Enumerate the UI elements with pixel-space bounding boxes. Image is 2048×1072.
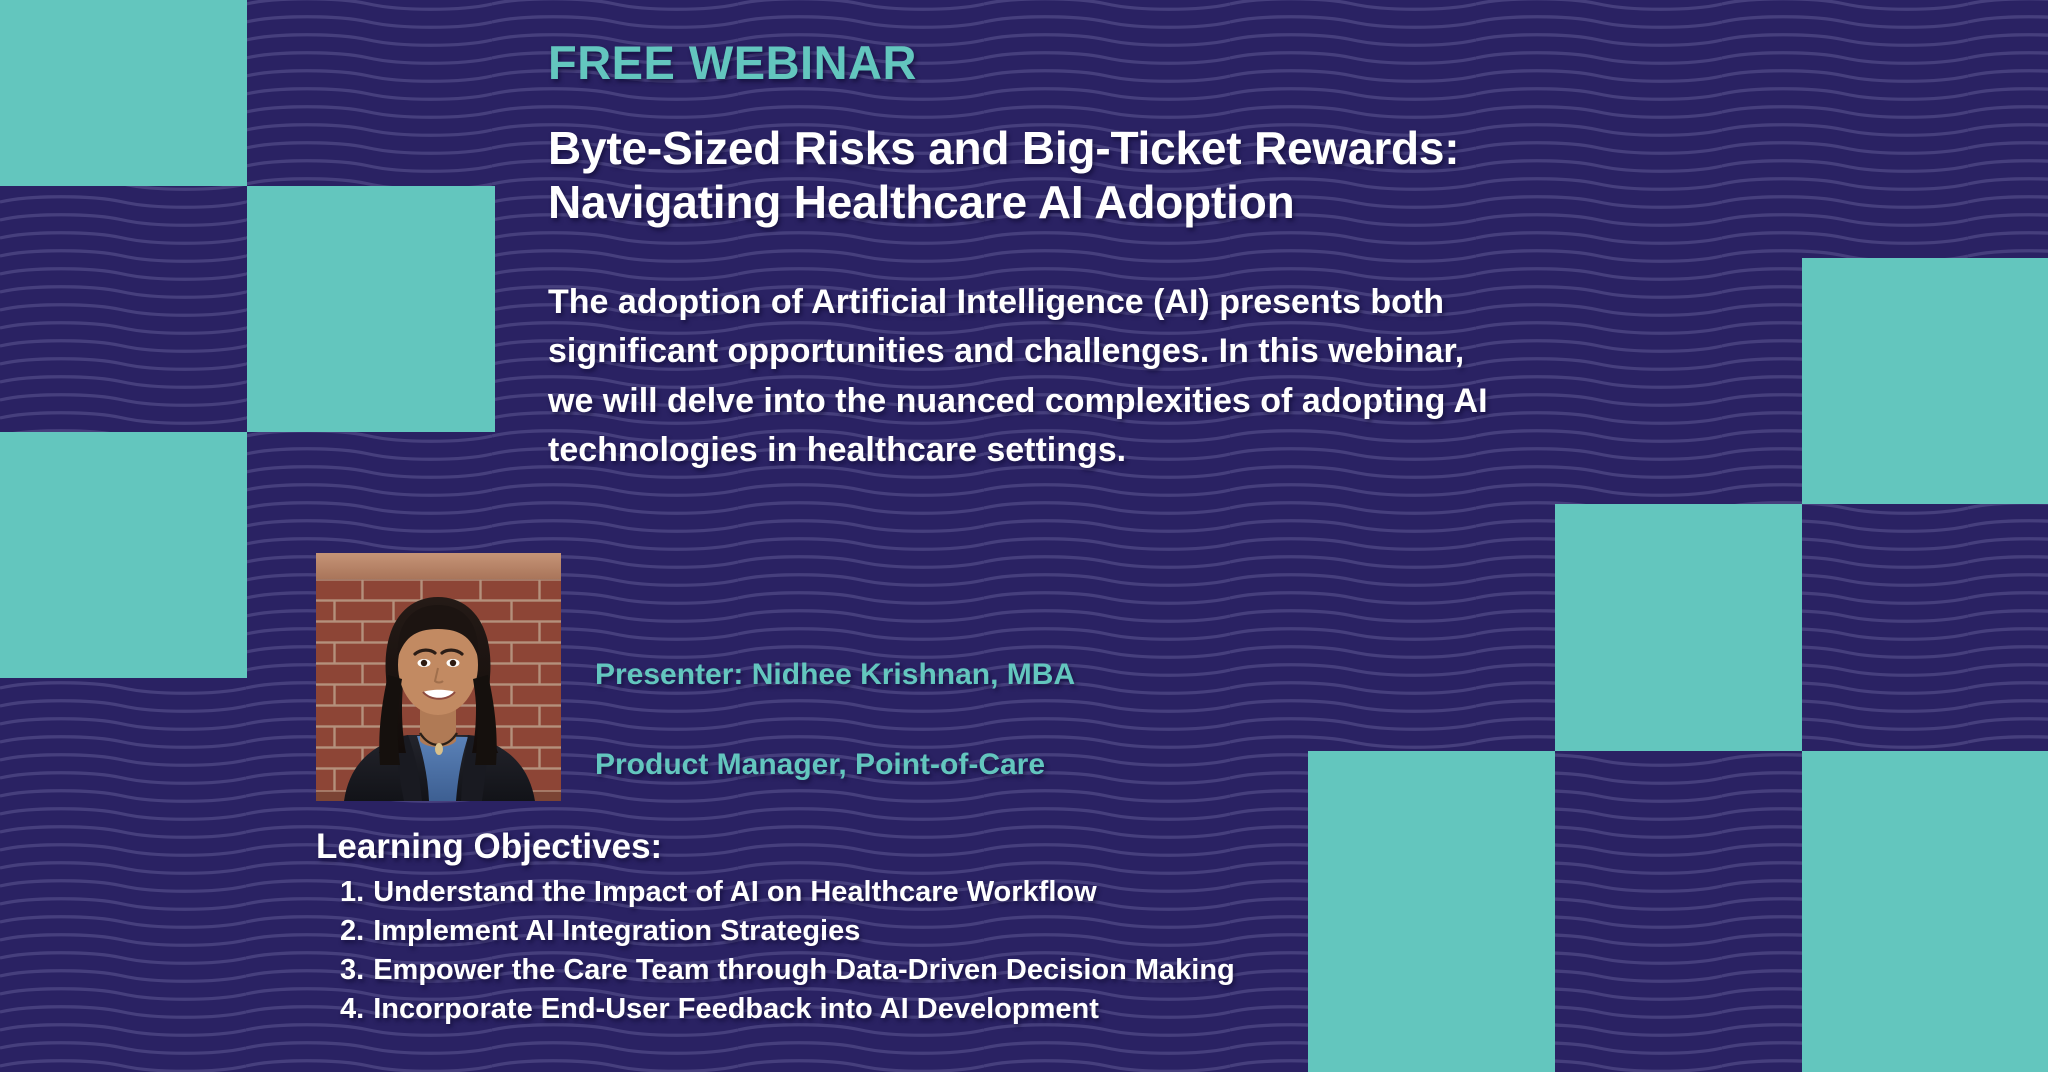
objective-item: 4.Incorporate End-User Feedback into AI …: [340, 995, 1235, 1024]
objective-text: Incorporate End-User Feedback into AI De…: [373, 995, 1099, 1024]
page-title: Byte-Sized Risks and Big-Ticket Rewards:…: [548, 122, 1668, 230]
objective-item: 1.Understand the Impact of AI on Healthc…: [340, 878, 1235, 907]
presenter-title: Product Manager, Point-of-Care: [595, 742, 1075, 787]
objective-text: Empower the Care Team through Data-Drive…: [373, 956, 1235, 985]
objective-number: 3.: [340, 956, 364, 985]
presenter-name: Presenter: Nidhee Krishnan, MBA: [595, 652, 1075, 697]
eyebrow-free-webinar: FREE WEBINAR: [548, 38, 917, 87]
objective-item: 2.Implement AI Integration Strategies: [340, 917, 1235, 946]
learning-objectives-list: 1.Understand the Impact of AI on Healthc…: [340, 878, 1235, 1034]
webinar-poster: FREE WEBINAR Byte-Sized Risks and Big-Ti…: [0, 0, 2048, 1072]
learning-objectives-heading: Learning Objectives:: [316, 828, 662, 867]
objective-item: 3.Empower the Care Team through Data-Dri…: [340, 956, 1235, 985]
objective-text: Implement AI Integration Strategies: [373, 917, 860, 946]
description-paragraph: The adoption of Artificial Intelligence …: [548, 278, 1488, 475]
objective-number: 1.: [340, 878, 364, 907]
poster-content: FREE WEBINAR Byte-Sized Risks and Big-Ti…: [0, 0, 2048, 1072]
presenter-info: Presenter: Nidhee Krishnan, MBA Product …: [595, 607, 1075, 832]
objective-number: 4.: [340, 995, 364, 1024]
objective-text: Understand the Impact of AI on Healthcar…: [373, 878, 1097, 907]
objective-number: 2.: [340, 917, 364, 946]
